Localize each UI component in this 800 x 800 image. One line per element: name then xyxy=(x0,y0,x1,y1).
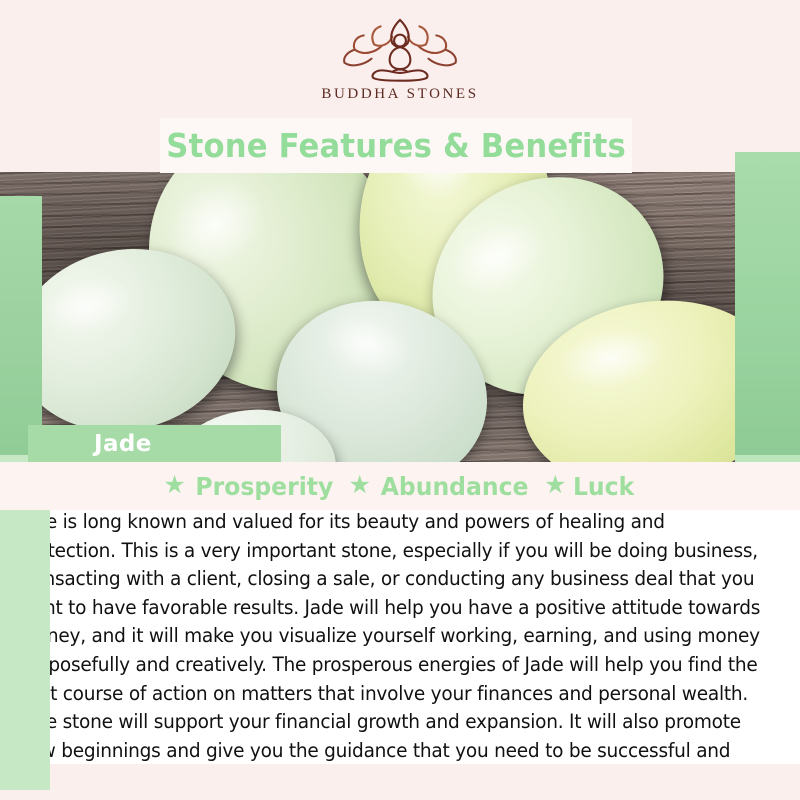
star-icon: ★ xyxy=(348,473,370,498)
bottom-margin xyxy=(0,764,800,800)
star-icon: ★ xyxy=(163,473,185,498)
benefit-item-prosperity: ★ Prosperity xyxy=(163,472,337,501)
benefit-label: Luck xyxy=(573,472,634,501)
stone-photo xyxy=(0,172,800,462)
lotus-meditation-icon xyxy=(335,16,465,82)
description-area: Jade is long known and valued for its be… xyxy=(0,508,800,800)
stone-name-band: Jade xyxy=(28,425,281,462)
decorative-green-strip-right xyxy=(735,152,800,482)
benefit-label: Abundance xyxy=(381,472,529,501)
page-title: Stone Features & Benefits xyxy=(166,126,626,165)
benefit-item-luck: ★ Luck xyxy=(544,472,637,501)
stone-name-label: Jade xyxy=(94,431,152,457)
benefit-label: Prosperity xyxy=(195,472,333,501)
title-band: Stone Features & Benefits xyxy=(160,118,632,173)
star-icon: ★ xyxy=(544,473,566,498)
brand-header: BUDDHA STONES xyxy=(0,0,800,118)
infographic-page: BUDDHA STONES Stone Features & Benefits … xyxy=(0,0,800,800)
benefits-row: ★ Prosperity ★ Abundance ★ Luck xyxy=(0,462,800,510)
benefit-item-abundance: ★ Abundance xyxy=(348,472,533,501)
description-text: Jade is long known and valued for its be… xyxy=(18,508,761,794)
brand-wordmark: BUDDHA STONES xyxy=(321,86,478,103)
